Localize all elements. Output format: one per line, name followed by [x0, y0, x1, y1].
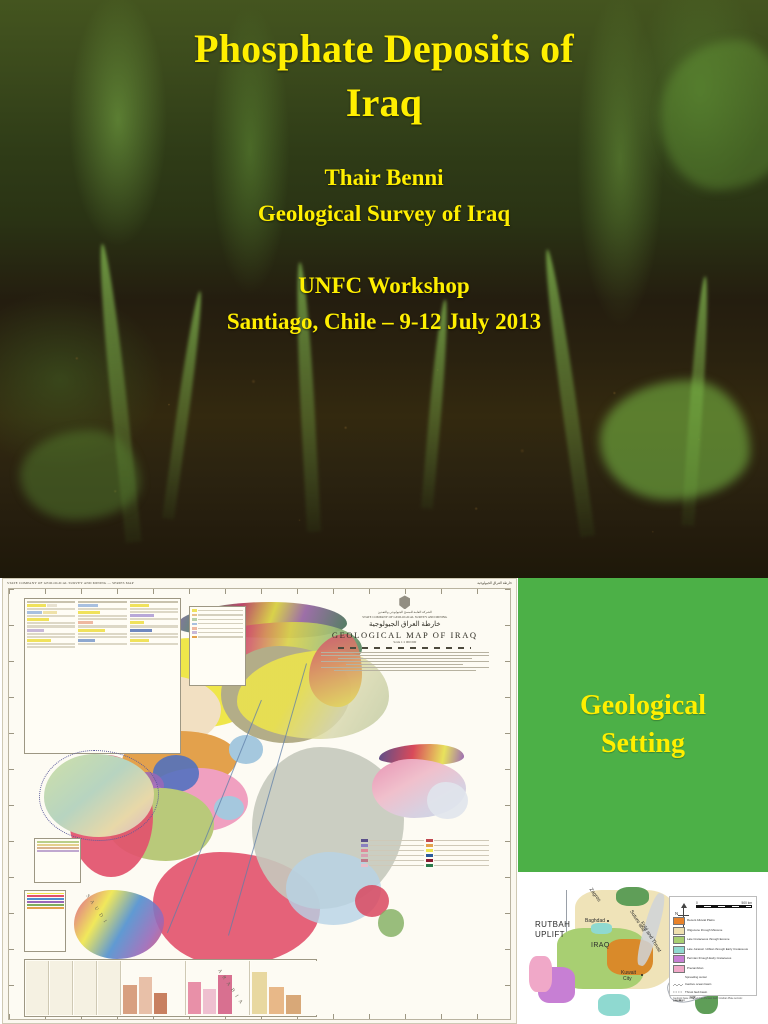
map-neatline-frame: الشركة العامة للمسح الجيولوجي والتعدين S… [8, 588, 511, 1020]
legend-item-label: Precambrian [687, 967, 703, 970]
table-swatch-row [27, 629, 75, 632]
north-arrow-cross [678, 915, 689, 916]
legend-symbol-label: Spreading center [685, 976, 707, 979]
credit-line [334, 670, 476, 671]
map-scale-bar [338, 647, 471, 649]
table-swatch-row [78, 629, 126, 632]
map-header-left-text: STATE COMPANY OF GEOLOGICAL SURVEY AND M… [7, 581, 134, 588]
legend-item-label: Oligocene through Miocene [687, 929, 722, 932]
map-header-right-text: خارطة العراق الجيولوجية [477, 581, 512, 588]
legend-swatch-row [426, 859, 489, 862]
legend-swatch-row [192, 627, 243, 630]
legend-symbol-label: Inactive ocean basin [685, 983, 711, 986]
structural-inset-map-left [34, 744, 164, 847]
legend-swatch-row [361, 839, 424, 842]
correlation-table-column [77, 600, 127, 753]
legend-source-note: Geologic base modified from Persian Gulf… [673, 998, 753, 1004]
legend-swatch-row [192, 618, 243, 621]
legend-item: Recent Alluvial Plains [673, 917, 753, 925]
tec-unit-cyan-patch [591, 923, 612, 934]
table-row-line [27, 633, 75, 635]
legend-swatch-row [426, 854, 489, 857]
section-title-line-1: Geological [580, 687, 706, 725]
table-row-line [130, 611, 178, 613]
page-title-line-1: Phosphate Deposits of [60, 22, 708, 76]
table-swatch-row [130, 614, 178, 617]
structural-inset-map-right [370, 744, 490, 839]
city-dot-kuwait [641, 974, 643, 976]
legend-swatch-row [426, 849, 489, 852]
map-tick-row-top [9, 589, 510, 594]
table-row-line [130, 636, 178, 638]
table-row-line [27, 608, 75, 610]
legend-item-label: Permian through Early Cretaceous [687, 957, 731, 960]
legend-swatch-row [361, 864, 424, 867]
north-arrow-label: N [675, 911, 678, 916]
legend-item-label: Recent Alluvial Plains [687, 919, 715, 922]
legend-symbol-item: Inactive ocean basin [673, 982, 753, 988]
table-row-line [78, 601, 126, 603]
map-title-block: الشركة العامة للمسح الجيولوجي والتعدين S… [310, 595, 500, 672]
correlation-table-column [129, 600, 179, 753]
table-row-line [27, 615, 75, 617]
legend-swatch-row [426, 844, 489, 847]
table-row-line [78, 633, 126, 635]
administrative-inset-legend [24, 890, 66, 952]
scale-bar-widget: 0 500 km [696, 901, 752, 908]
table-row-line [130, 633, 178, 635]
legend-color-swatch [673, 965, 685, 973]
table-swatch-row [78, 604, 126, 607]
legend-symbol-item: Spreading center [673, 975, 753, 981]
legend-color-swatch [673, 946, 685, 954]
structural-inset-legend-right [360, 838, 490, 933]
spreading-center-icon [673, 975, 683, 981]
scale-max-label: 500 km [742, 901, 752, 905]
table-row-line [130, 601, 178, 603]
scale-min-label: 0 [696, 901, 698, 905]
strat-col [98, 961, 121, 1015]
legend-item: Late Cretaceous through Eocene [673, 936, 753, 944]
legend-item-list: Recent Alluvial Plains Oligocene through… [673, 917, 753, 1003]
strat-col [50, 961, 73, 1015]
legend-swatch-row [361, 844, 424, 847]
legend-item: Late Jurassic / Albian through Early Cre… [673, 946, 753, 954]
legend-swatch-row [192, 631, 243, 634]
legend-swatch-row [192, 614, 243, 617]
table-row-line [27, 636, 75, 638]
legend-symbol-item: Thrust fault basin [673, 990, 753, 996]
tec-unit-green-north [616, 887, 648, 906]
legend-symbol-label: Thrust fault basin [685, 991, 707, 994]
geological-map-of-iraq-image: STATE COMPANY OF GEOLOGICAL SURVEY AND M… [2, 578, 517, 1024]
structural-inset-legend-left [34, 838, 81, 883]
table-row-line [27, 625, 75, 627]
table-swatch-row [27, 604, 75, 607]
table-row-line [78, 625, 126, 627]
map-header-strip: STATE COMPANY OF GEOLOGICAL SURVEY AND M… [3, 579, 516, 588]
city-dot-baghdad [607, 920, 609, 922]
correlation-table-grid [26, 600, 179, 753]
credit-line [346, 664, 463, 665]
strat-col-mineral [122, 961, 185, 1015]
legend-color-swatch [673, 955, 685, 963]
credit-line [321, 655, 489, 656]
table-row-line [78, 636, 126, 638]
presenter-name: Thair Benni [60, 160, 708, 196]
strat-col [74, 961, 97, 1015]
strat-col-events [251, 961, 320, 1015]
correlation-table-legend [24, 598, 181, 755]
tec-unit-cyan-south [598, 994, 630, 1016]
map-credits-paragraph [321, 652, 489, 671]
tectonic-label-kuwait-city-line2: City [623, 976, 632, 982]
geological-setting-slide: STATE COMPANY OF GEOLOGICAL SURVEY AND M… [0, 578, 768, 1024]
tectonic-label-baghdad: Baghdad [585, 918, 605, 924]
section-title: Geological Setting [580, 687, 706, 763]
table-row-line [130, 608, 178, 610]
strat-col [26, 961, 49, 1015]
iraq-state-crest-icon [399, 595, 410, 609]
tectonic-map-canvas: RUTBAH UPLIFT IRAQ Baghdad Kuwait City Z… [529, 884, 759, 1022]
map-title-english: GEOLOGICAL MAP OF IRAQ [310, 630, 500, 640]
table-row-line [78, 618, 126, 620]
tectonic-label-rutbah-uplift-line2: UPLIFT [535, 930, 565, 939]
legend-color-swatch [673, 917, 685, 925]
table-swatch-row [78, 621, 126, 624]
tectonic-label-iraq: IRAQ [591, 942, 610, 949]
tectonic-map-image: RUTBAH UPLIFT IRAQ Baghdad Kuwait City Z… [521, 878, 767, 1024]
map-title-arabic: خارطة العراق الجيولوجية [310, 620, 500, 628]
legend-item-label: Late Cretaceous through Eocene [687, 938, 729, 941]
legend-swatch-row [426, 839, 489, 842]
correlation-table-column [26, 600, 76, 753]
legend-swatch-row [361, 854, 424, 857]
credit-line [321, 652, 489, 653]
credit-line [321, 667, 489, 668]
table-swatch-row [130, 621, 178, 624]
table-swatch-row [130, 639, 178, 642]
table-swatch-row [78, 611, 126, 614]
tectonic-map-legend: N 0 500 km Recent Alluvial Plains [669, 896, 757, 996]
legend-color-swatch [673, 927, 685, 935]
stratigraphic-column-table [24, 959, 317, 1017]
legend-swatch-row [192, 636, 243, 639]
credit-line [321, 661, 489, 662]
tec-unit-pink-precambrian [529, 956, 552, 992]
table-swatch-row [27, 611, 75, 614]
table-swatch-row [130, 604, 178, 607]
legend-item: Precambrian [673, 965, 753, 973]
table-row-line [130, 625, 178, 627]
table-swatch-row [78, 639, 126, 642]
event-block: UNFC Workshop Santiago, Chile – 9-12 Jul… [40, 268, 728, 341]
table-row-line [27, 622, 75, 624]
table-row-line [27, 643, 75, 645]
event-name: UNFC Workshop [40, 268, 728, 304]
table-swatch-row [27, 639, 75, 642]
legend-color-swatch [673, 936, 685, 944]
presenter-organization: Geological Survey of Iraq [60, 196, 708, 232]
legend-item-label: Late Jurassic / Albian through Early Cre… [687, 948, 748, 951]
map-tick-col-left [9, 589, 14, 1019]
thrust-fault-basin-icon [673, 990, 683, 996]
event-place-date: Santiago, Chile – 9-12 July 2013 [40, 304, 728, 340]
quaternary-legend-box [189, 606, 246, 685]
map-scale-text: Scale 1:1 000 000 [310, 640, 500, 645]
geological-setting-panel: Geological Setting [518, 578, 768, 872]
table-row-line [78, 615, 126, 617]
inactive-ocean-basin-icon [673, 982, 683, 988]
legend-swatch-row [192, 622, 243, 625]
table-swatch-row [27, 618, 75, 621]
legend-swatch-row [361, 849, 424, 852]
map-tick-col-right [505, 589, 510, 1019]
tectonic-label-rutbah-uplift: RUTBAH [535, 920, 570, 929]
legend-swatch-row [361, 859, 424, 862]
scale-bar-graphic [696, 905, 752, 908]
title-slide: Phosphate Deposits of Iraq Thair Benni G… [0, 0, 768, 578]
table-row-line [27, 601, 75, 603]
legend-swatch-row [426, 864, 489, 867]
table-row-line [130, 618, 178, 620]
table-row-line [130, 643, 178, 645]
legend-swatch-row [192, 609, 243, 612]
table-swatch-row [130, 629, 178, 632]
page-title-line-2: Iraq [60, 76, 708, 130]
legend-item: Permian through Early Cretaceous [673, 955, 753, 963]
presenter-block: Thair Benni Geological Survey of Iraq [60, 160, 708, 231]
table-row-line [78, 643, 126, 645]
table-row-line [27, 646, 75, 648]
table-row-line [78, 608, 126, 610]
credit-line [338, 658, 472, 659]
section-title-line-2: Setting [580, 725, 706, 763]
page-title: Phosphate Deposits of Iraq [60, 22, 708, 130]
legend-item: Oligocene through Miocene [673, 927, 753, 935]
